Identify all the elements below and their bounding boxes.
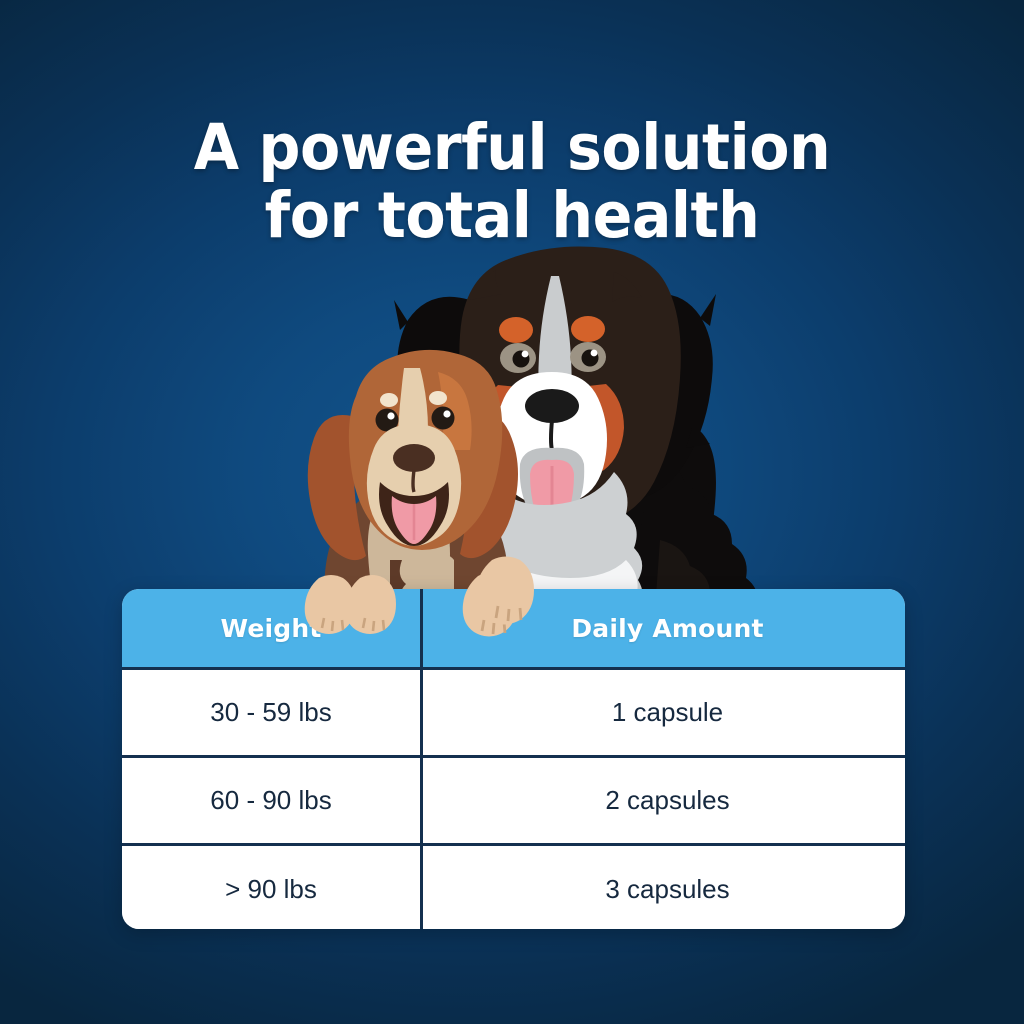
right-eyebrow-dot xyxy=(571,316,605,342)
left-eyebrow-dot xyxy=(499,317,533,343)
headline-line-2: for total health xyxy=(36,182,988,249)
column-header-weight: Weight xyxy=(122,589,422,669)
cell-weight: 30 - 59 lbs xyxy=(122,669,422,757)
dosage-table-grid: Weight Daily Amount 30 - 59 lbs 1 capsul… xyxy=(122,589,905,929)
page-title: A powerful solution for total health xyxy=(0,114,1024,249)
promo-poster: A powerful solution for total health xyxy=(0,0,1024,1024)
cell-daily-amount: 3 capsules xyxy=(422,845,906,930)
dosage-table: Weight Daily Amount 30 - 59 lbs 1 capsul… xyxy=(122,589,905,929)
table-head: Weight Daily Amount xyxy=(122,589,905,669)
headline-line-1: A powerful solution xyxy=(36,114,988,181)
table-row: > 90 lbs 3 capsules xyxy=(122,845,905,930)
table-row: 60 - 90 lbs 2 capsules xyxy=(122,757,905,845)
large-dog-illustration xyxy=(381,247,759,645)
table-header-row: Weight Daily Amount xyxy=(122,589,905,669)
small-dog-illustration xyxy=(308,350,518,618)
table-row: 30 - 59 lbs 1 capsule xyxy=(122,669,905,757)
cell-weight: 60 - 90 lbs xyxy=(122,757,422,845)
cell-weight: > 90 lbs xyxy=(122,845,422,930)
cell-daily-amount: 2 capsules xyxy=(422,757,906,845)
cell-daily-amount: 1 capsule xyxy=(422,669,906,757)
table-body: 30 - 59 lbs 1 capsule 60 - 90 lbs 2 caps… xyxy=(122,669,905,930)
column-header-daily-amount: Daily Amount xyxy=(422,589,906,669)
